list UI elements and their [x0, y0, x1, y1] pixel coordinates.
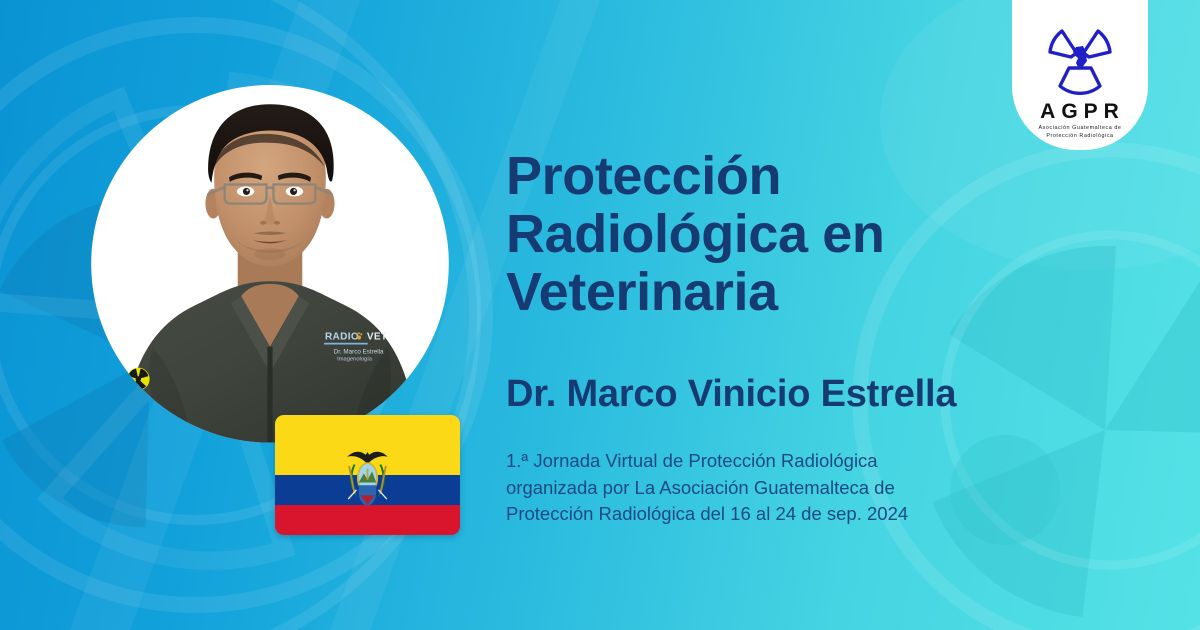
- svg-text:RADIO: RADIO: [325, 332, 359, 343]
- agpr-logo-card: AGPR Asociación Guatemalteca de Protecci…: [1012, 0, 1148, 150]
- logo-subtitle-line-1: Asociación Guatemalteca de: [1039, 124, 1122, 132]
- svg-text:Imagenología: Imagenología: [337, 357, 373, 363]
- title-line-2: Radiológica en: [506, 206, 1106, 264]
- speaker-name: Dr. Marco Vinicio Estrella: [506, 373, 1106, 416]
- svg-text:VET: VET: [367, 332, 388, 343]
- radiation-trefoil-guatemala-icon: [1038, 27, 1122, 99]
- title-line-1: Protección: [506, 148, 1106, 206]
- logo-subtitle-line-2: Protección Radiológica: [1046, 132, 1113, 140]
- radiation-trefoil-patch: [127, 368, 150, 391]
- event-info-line-3: Protección Radiológica del 16 al 24 de s…: [506, 501, 1106, 527]
- svg-text:Dr. Marco Estrella: Dr. Marco Estrella: [334, 349, 384, 356]
- ecuador-flag: [275, 415, 460, 535]
- event-info-line-2: organizada por La Asociación Guatemaltec…: [506, 475, 1106, 501]
- event-info-line-1: 1.ª Jornada Virtual de Protección Radiol…: [506, 448, 1106, 474]
- event-banner: RADIO VET Dr. Marco Estrella Imagenologí…: [0, 0, 1200, 630]
- page-title: Protección Radiológica en Veterinaria: [506, 148, 1106, 321]
- title-line-3: Veterinaria: [506, 264, 1106, 322]
- text-block: Protección Radiológica en Veterinaria Dr…: [506, 148, 1106, 527]
- logo-acronym: AGPR: [1035, 100, 1125, 124]
- event-info: 1.ª Jornada Virtual de Protección Radiol…: [506, 448, 1106, 527]
